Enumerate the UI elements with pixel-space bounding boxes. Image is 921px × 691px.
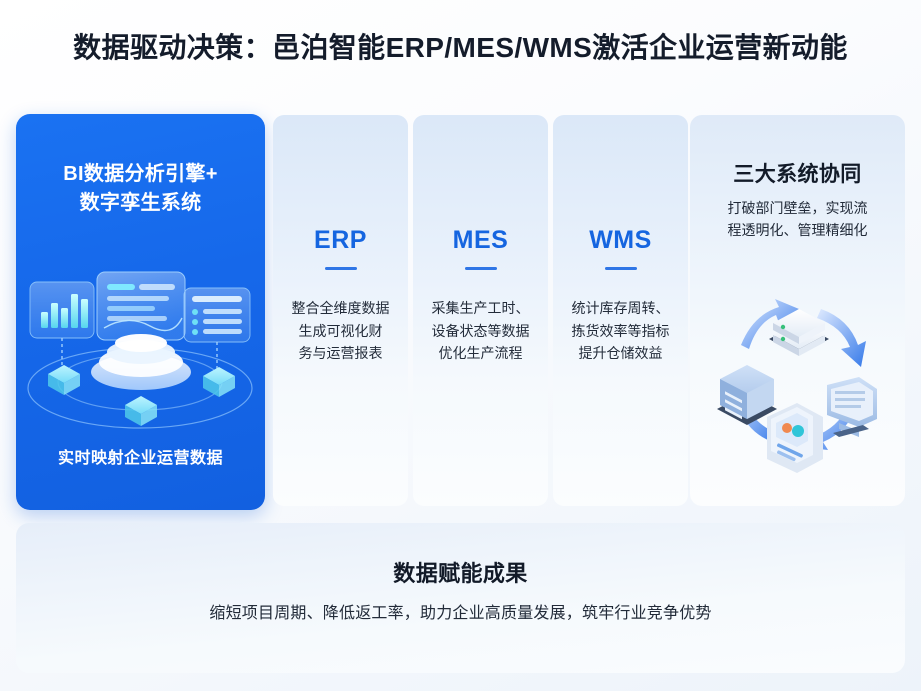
synergy-desc-line2: 程透明化、管理精细化 [728, 222, 868, 238]
module-card-wms[interactable]: WMS 统计库存周转、 拣货效率等指标 提升仓储效益 [553, 115, 688, 506]
main-content-row: BI数据分析引擎+ 数字孪生系统 [16, 114, 905, 510]
page-title: 数据驱动决策：邑泊智能ERP/MES/WMS激活企业运营新动能 [0, 26, 921, 66]
synergy-desc: 打破部门壁垒，实现流 程透明化、管理精细化 [700, 197, 895, 242]
module-divider-mes [465, 267, 497, 270]
outcome-title: 数据赋能成果 [16, 556, 905, 588]
module-desc-wms-line3: 提升仓储效益 [579, 345, 663, 361]
module-desc-wms-line2: 拣货效率等指标 [572, 323, 670, 339]
bi-card-caption: 实时映射企业运营数据 [16, 444, 265, 468]
module-desc-mes-line1: 采集生产工时、 [432, 300, 530, 316]
module-desc-wms-line1: 统计库存周转、 [572, 300, 670, 316]
module-divider-wms [605, 267, 637, 270]
synergy-desc-line1: 打破部门壁垒，实现流 [728, 200, 868, 216]
module-desc-mes-line3: 优化生产流程 [439, 345, 523, 361]
module-desc-erp-line2: 生成可视化财 [299, 323, 383, 339]
synergy-card[interactable]: 三大系统协同 打破部门壁垒，实现流 程透明化、管理精细化 [690, 115, 905, 506]
outcome-desc: 缩短项目周期、降低返工率，助力企业高质量发展，筑牢行业竞争优势 [16, 599, 905, 623]
module-name-wms: WMS [553, 226, 688, 255]
bi-card-title: BI数据分析引擎+ 数字孪生系统 [16, 160, 265, 218]
module-desc-mes: 采集生产工时、 设备状态等数据 优化生产流程 [419, 297, 542, 365]
synergy-title: 三大系统协同 [690, 158, 905, 188]
module-card-erp[interactable]: ERP 整合全维度数据 生成可视化财 务与运营报表 [273, 115, 408, 506]
module-desc-erp: 整合全维度数据 生成可视化财 务与运营报表 [279, 297, 402, 365]
module-desc-wms: 统计库存周转、 拣货效率等指标 提升仓储效益 [559, 297, 682, 365]
module-divider-erp [325, 267, 357, 270]
bi-card-title-line1: BI数据分析引擎+ [63, 163, 217, 185]
module-card-mes[interactable]: MES 采集生产工时、 设备状态等数据 优化生产流程 [413, 115, 548, 506]
system-cycle-illustration [703, 287, 893, 479]
module-name-erp: ERP [273, 226, 408, 255]
module-desc-erp-line1: 整合全维度数据 [292, 300, 390, 316]
module-desc-mes-line2: 设备状态等数据 [432, 323, 530, 339]
module-desc-erp-line3: 务与运营报表 [299, 345, 383, 361]
outcome-banner[interactable]: 数据赋能成果 缩短项目周期、降低返工率，助力企业高质量发展，筑牢行业竞争优势 [16, 523, 905, 673]
bi-card-title-line2: 数字孪生系统 [80, 192, 202, 214]
bi-engine-card[interactable]: BI数据分析引擎+ 数字孪生系统 [16, 114, 265, 510]
module-name-mes: MES [413, 226, 548, 255]
bi-dashboard-illustration [24, 270, 257, 438]
